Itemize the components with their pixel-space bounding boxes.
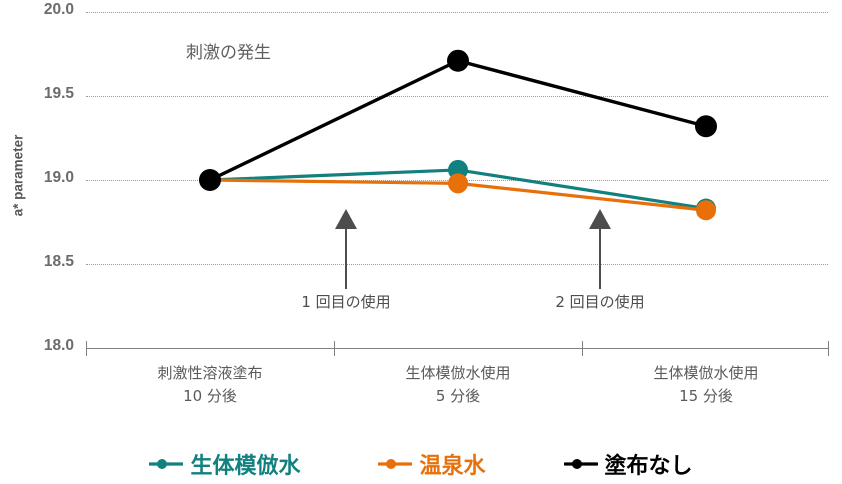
x-tick-0 xyxy=(86,341,87,356)
data-point xyxy=(695,115,717,137)
y-tick-label-20-0: 20.0 xyxy=(10,2,74,18)
x-axis-line xyxy=(86,348,828,349)
annotation-second-use-label: 2 回目の使用 xyxy=(540,291,660,312)
annotation-irritation-callout: 刺激の発生 xyxy=(186,38,271,63)
x-category-label-2-line-1: 生体模倣水使用 xyxy=(586,362,826,385)
x-category-label-1: 生体模倣水使用 5 分後 xyxy=(338,362,578,407)
up-arrow-icon xyxy=(334,207,358,289)
chart-legend: 生体模倣水温泉水塗布なし xyxy=(0,444,842,484)
x-tick-1 xyxy=(334,341,335,356)
legend-item-2[interactable]: 温泉水 xyxy=(378,448,485,480)
x-category-label-1-line-2: 5 分後 xyxy=(338,385,578,408)
legend-item-label: 生体模倣水 xyxy=(190,448,300,480)
y-tick-label-19-5: 19.5 xyxy=(10,86,74,102)
chart-container: a* parameter 20.0 19.5 19.0 18.5 18.0 刺激… xyxy=(0,0,842,484)
legend-marker-icon xyxy=(149,456,183,472)
y-axis-tick-labels: 20.0 19.5 19.0 18.5 18.0 xyxy=(8,0,74,484)
x-category-label-0: 刺激性溶液塗布 10 分後 xyxy=(90,362,330,407)
data-point xyxy=(447,50,469,72)
y-tick-label-18-0: 18.0 xyxy=(10,338,74,354)
legend-item-1[interactable]: 生体模倣水 xyxy=(149,448,300,480)
legend-marker-icon xyxy=(378,456,412,472)
annotation-first-use-label: 1 回目の使用 xyxy=(286,291,406,312)
x-category-label-1-line-1: 生体模倣水使用 xyxy=(338,362,578,385)
legend-marker-icon xyxy=(564,456,598,472)
x-category-label-0-line-1: 刺激性溶液塗布 xyxy=(90,362,330,385)
legend-item-label: 塗布なし xyxy=(605,448,693,480)
x-tick-2 xyxy=(582,341,583,356)
data-point xyxy=(696,200,716,220)
annotation-second-use: 2 回目の使用 xyxy=(540,207,660,312)
legend-item-label: 温泉水 xyxy=(419,448,485,480)
data-point xyxy=(448,173,468,193)
y-tick-label-18-5: 18.5 xyxy=(10,254,74,270)
up-arrow-icon xyxy=(588,207,612,289)
x-tick-3 xyxy=(828,341,829,356)
y-tick-label-19-0: 19.0 xyxy=(10,170,74,186)
x-category-label-2: 生体模倣水使用 15 分後 xyxy=(586,362,826,407)
data-point xyxy=(199,169,221,191)
x-category-label-2-line-2: 15 分後 xyxy=(586,385,826,408)
x-category-label-0-line-2: 10 分後 xyxy=(90,385,330,408)
legend-item-3[interactable]: 塗布なし xyxy=(564,448,693,480)
annotation-first-use: 1 回目の使用 xyxy=(286,207,406,312)
